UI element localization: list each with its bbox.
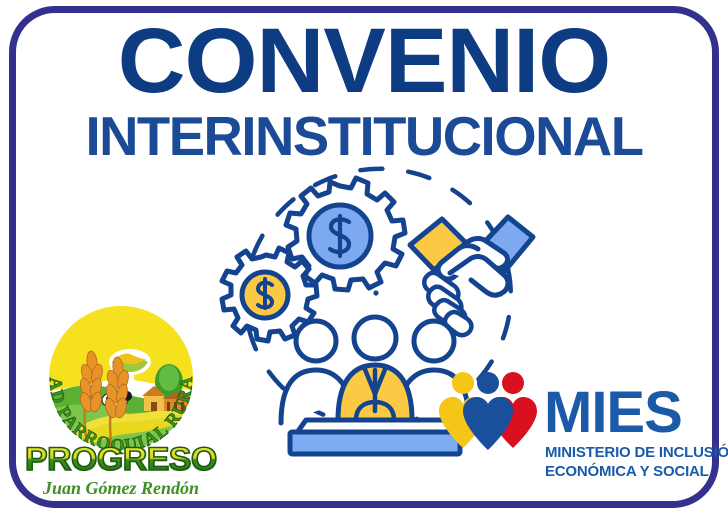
mies-logo: MIES MINISTERIO DE INCLUSIÓN ECONÓMICA Y… [440, 370, 705, 495]
mies-subtitle-line2: ECONÓMICA Y SOCIAL [545, 462, 709, 480]
gad-parroquial-progreso-logo: GAD PARROQUIAL RURAL PROGRESO Juan Gómez… [26, 300, 216, 505]
page-subtitle: INTERINSTITUCIONAL [4, 109, 725, 164]
mies-heart-figures [439, 372, 537, 450]
mies-subtitle-line1: MINISTERIO DE INCLUSIÓN [545, 443, 728, 461]
mies-acronym-label: MIES [544, 380, 682, 445]
gad-script-label: Juan Gómez Rendón [42, 478, 199, 498]
poster-canvas: CONVENIO INTERINSTITUCIONAL [0, 0, 728, 518]
handshake-icon [410, 217, 533, 335]
gad-progreso-label: PROGRESO [25, 441, 217, 477]
page-title: CONVENIO [0, 18, 728, 105]
poster-title-block: CONVENIO INTERINSTITUCIONAL [0, 18, 728, 164]
